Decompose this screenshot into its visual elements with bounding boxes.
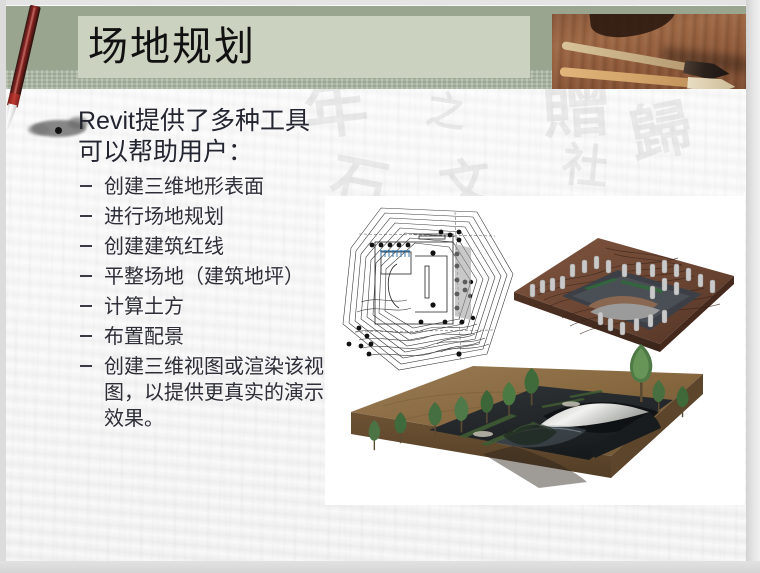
list-item-label: 平整场地（建筑地坪）: [104, 266, 304, 288]
page-title: 场地规划: [88, 19, 256, 75]
list-item-label: 进行场地规划: [104, 206, 224, 228]
lead-paragraph: Revit提供了多种工具 可以帮助用户：: [78, 106, 334, 168]
dash-marker-icon: [80, 305, 92, 307]
lead-latin-term: Revit: [78, 107, 135, 135]
frame-left-edge: [0, 0, 6, 573]
dash-marker-icon: [80, 275, 92, 277]
list-item: 计算土方: [78, 294, 334, 320]
list-item: 平整场地（建筑地坪）: [78, 264, 334, 290]
dash-marker-icon: [80, 185, 92, 187]
dash-marker-icon: [80, 215, 92, 217]
dash-marker-icon: [80, 365, 92, 367]
list-item-label: 创建三维视图或渲染该视图，以提供更真实的演示效果。: [104, 356, 324, 430]
lead-line2: 可以帮助用户：: [78, 139, 253, 166]
feature-list: 创建三维地形表面 进行场地规划 创建建筑红线 平整场地（建筑地坪） 计算土方 布…: [78, 174, 334, 432]
dash-marker-icon: [80, 245, 92, 247]
slide-canvas: 年 之 贈 石 文 社 歸 書 山 场地规划 Revit提供了多种工具 可以帮助…: [0, 0, 760, 573]
frame-right-edge: [746, 0, 760, 573]
frame-top-edge: [0, 0, 760, 5]
list-item-label: 创建建筑红线: [104, 236, 224, 258]
list-item-label: 计算土方: [104, 296, 184, 318]
dash-marker-icon: [80, 335, 92, 337]
list-item-label: 布置配景: [104, 326, 184, 348]
rendered-site-3d-view: [343, 338, 733, 498]
calligraphy-brushes-photo: [552, 14, 746, 89]
frame-bottom-edge: [0, 561, 760, 573]
body-content: Revit提供了多种工具 可以帮助用户： 创建三维地形表面 进行场地规划 创建建…: [78, 106, 334, 436]
site-planning-illustrations: [325, 196, 745, 505]
list-item: 布置配景: [78, 324, 334, 350]
lead-line1-rest: 提供了多种工具: [135, 108, 310, 135]
list-item: 创建三维视图或渲染该视图，以提供更真实的演示效果。: [78, 354, 334, 432]
list-item-label: 创建三维地形表面: [104, 176, 264, 198]
list-item: 创建三维地形表面: [78, 174, 334, 200]
list-item: 创建建筑红线: [78, 234, 334, 260]
list-item: 进行场地规划: [78, 204, 334, 230]
